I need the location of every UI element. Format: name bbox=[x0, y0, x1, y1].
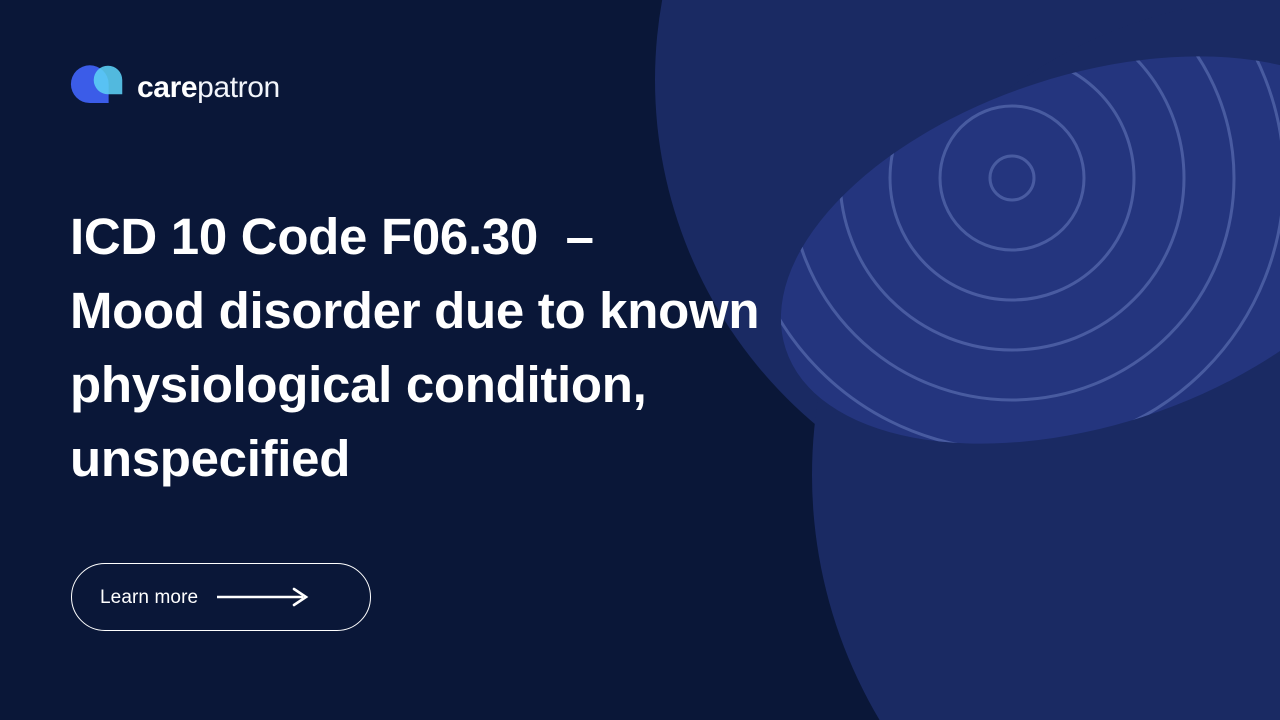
brand-logo[interactable]: carepatron bbox=[70, 61, 280, 113]
carepatron-logo-mark bbox=[70, 62, 124, 112]
decor-circle-bottom bbox=[812, 0, 1280, 720]
banner-canvas: carepatron ICD 10 Code F06.30 – Mood dis… bbox=[0, 0, 1280, 720]
arrow-right-icon bbox=[217, 587, 309, 607]
brand-word-patron: patron bbox=[197, 71, 280, 104]
brand-wordmark: carepatron bbox=[137, 73, 280, 103]
brand-word-care: care bbox=[137, 71, 197, 104]
logo-shape-right bbox=[94, 66, 123, 95]
learn-more-label: Learn more bbox=[100, 588, 198, 607]
learn-more-button[interactable]: Learn more bbox=[71, 563, 371, 631]
page-title: ICD 10 Code F06.30 – Mood disorder due t… bbox=[70, 200, 860, 496]
